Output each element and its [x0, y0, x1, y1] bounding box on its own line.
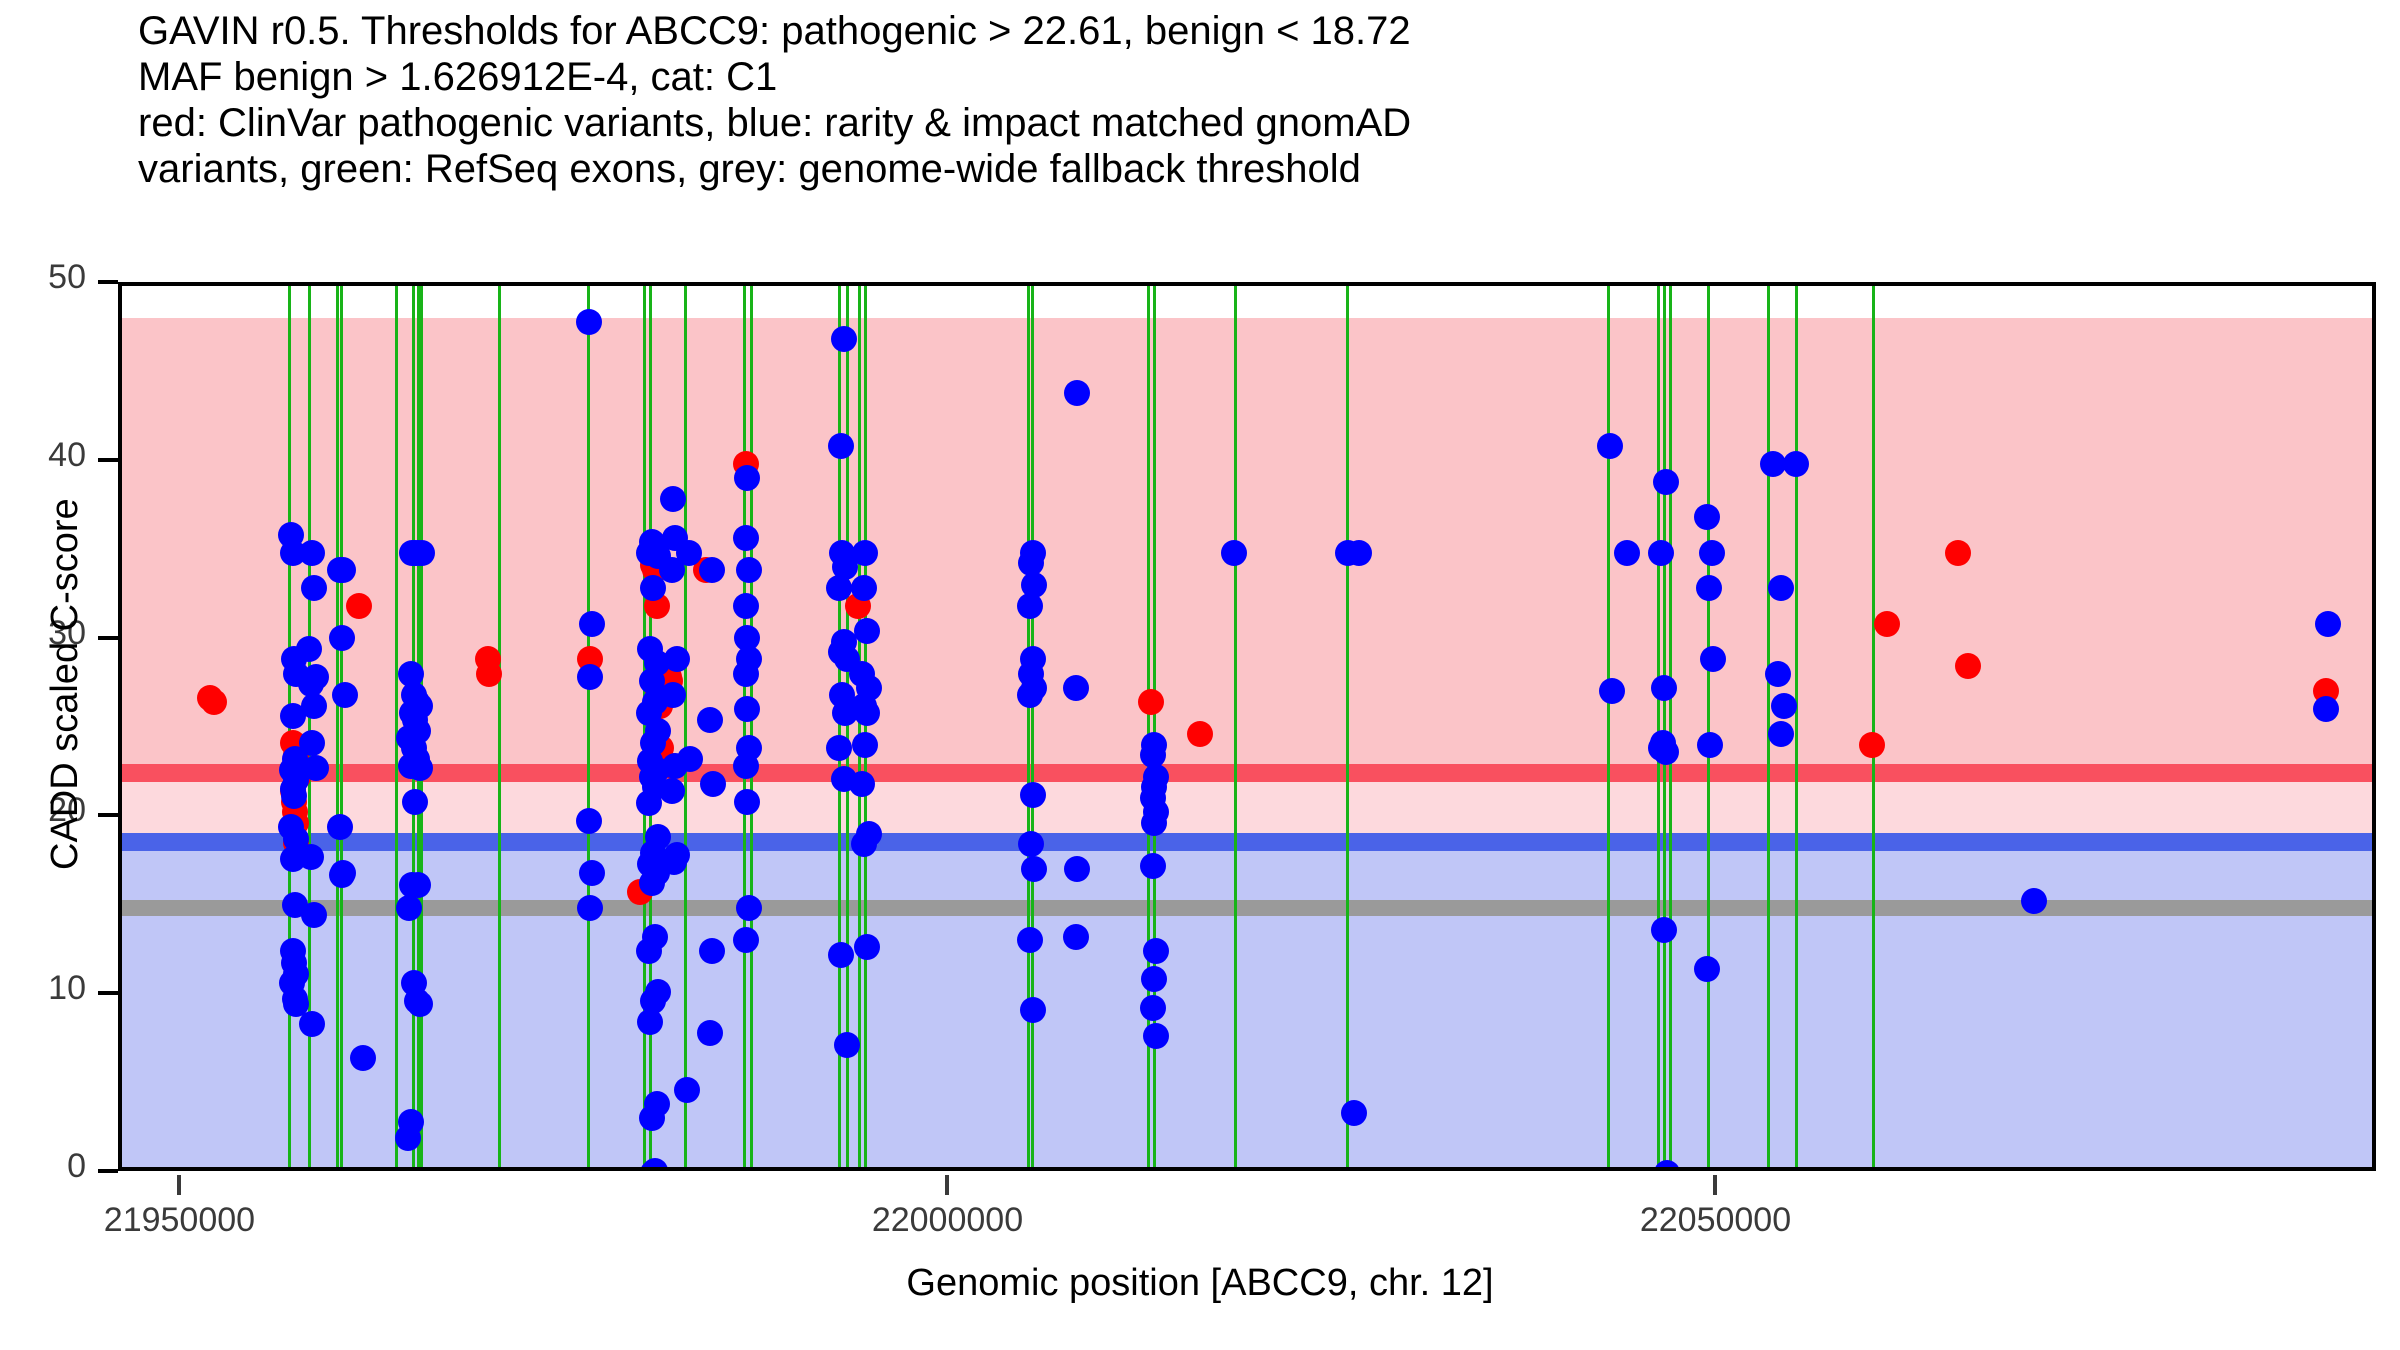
x-tick-label: 21950000 — [59, 1201, 299, 1240]
clinvar-pathogenic-point — [1945, 540, 1971, 566]
gnomad-variant-point — [576, 808, 602, 834]
x-tick — [945, 1175, 949, 1195]
gnomad-variant-point — [1699, 540, 1725, 566]
gnomad-variant-point — [854, 700, 880, 726]
chart-title-block: GAVIN r0.5. Thresholds for ABCC9: pathog… — [138, 8, 2238, 192]
y-tick-label: 10 — [48, 969, 86, 1008]
clinvar-pathogenic-point — [476, 661, 502, 687]
y-tick — [98, 813, 118, 817]
exon-line — [1707, 286, 1710, 1167]
clinvar-pathogenic-point — [346, 593, 372, 619]
gnomad-variant-point — [733, 927, 759, 953]
gnomad-variant-point — [576, 309, 602, 335]
y-tick — [98, 280, 118, 284]
gnomad-variant-point — [697, 707, 723, 733]
gnomad-variant-point — [332, 682, 358, 708]
title-line-2: MAF benign > 1.626912E-4, cat: C1 — [138, 54, 2238, 100]
exon-line — [750, 286, 753, 1167]
gnomad-variant-point — [1063, 675, 1089, 701]
gnomad-variant-point — [1017, 927, 1043, 953]
gnomad-variant-point — [1020, 782, 1046, 808]
gnomad-variant-point — [1064, 380, 1090, 406]
gnomad-variant-point — [851, 831, 877, 857]
exon-line — [864, 286, 867, 1167]
gnomad-variant-point — [733, 753, 759, 779]
gnomad-variant-point — [736, 895, 762, 921]
title-line-4: variants, green: RefSeq exons, grey: gen… — [138, 146, 2238, 192]
gnomad-variant-point — [734, 465, 760, 491]
gnomad-variant-point — [1341, 1100, 1367, 1126]
gnomad-variant-point — [1020, 997, 1046, 1023]
title-line-3: red: ClinVar pathogenic variants, blue: … — [138, 100, 2238, 146]
gnomad-variant-point — [1697, 732, 1723, 758]
y-tick-label: 0 — [67, 1147, 86, 1186]
gnomad-variant-point — [734, 789, 760, 815]
chart-root: GAVIN r0.5. Thresholds for ABCC9: pathog… — [0, 0, 2400, 1350]
exon-line — [1872, 286, 1875, 1167]
gnomad-variant-point — [674, 1077, 700, 1103]
gnomad-variant-point — [402, 789, 428, 815]
gnomad-variant-point — [1063, 924, 1089, 950]
gnomad-variant-point — [852, 732, 878, 758]
exon-line — [1795, 286, 1798, 1167]
y-tick — [98, 636, 118, 640]
exon-line — [1234, 286, 1237, 1167]
gnomad-variant-point — [639, 1105, 665, 1131]
gnomad-variant-point — [1651, 917, 1677, 943]
gnomad-variant-point — [303, 755, 329, 781]
gnomad-variant-point — [852, 540, 878, 566]
exon-line — [498, 286, 501, 1167]
ambiguous-zone — [122, 773, 2372, 842]
y-tick — [98, 458, 118, 462]
exon-line — [684, 286, 687, 1167]
gnomad-variant-point — [736, 557, 762, 583]
gnomad-variant-point — [301, 693, 327, 719]
gnomad-variant-point — [2315, 611, 2341, 637]
gnomad-variant-point — [296, 636, 322, 662]
gnomad-variant-point — [329, 625, 355, 651]
gnomad-variant-point — [1651, 675, 1677, 701]
gnomad-variant-point — [854, 618, 880, 644]
gnomad-variant-point — [733, 661, 759, 687]
gnomad-variant-point — [298, 844, 324, 870]
gnomad-variant-point — [828, 942, 854, 968]
y-tick-label: 40 — [48, 436, 86, 475]
gnomad-variant-point — [1768, 575, 1794, 601]
gnomad-variant-point — [699, 938, 725, 964]
gnomad-variant-point — [327, 814, 353, 840]
gnomad-variant-point — [1696, 575, 1722, 601]
gnomad-variant-point — [299, 540, 325, 566]
gnomad-variant-point — [1653, 469, 1679, 495]
gnomad-variant-point — [1783, 451, 1809, 477]
gnomad-variant-point — [1017, 593, 1043, 619]
exon-line — [858, 286, 861, 1167]
plot-area — [118, 282, 2376, 1171]
pathogenic-zone — [122, 318, 2372, 782]
gnomad-variant-point — [636, 938, 662, 964]
x-axis-label: Genomic position [ABCC9, chr. 12] — [0, 1262, 2400, 1305]
exon-line — [1027, 286, 1030, 1167]
gnomad-variant-point — [662, 753, 688, 779]
gnomad-variant-point — [409, 540, 435, 566]
exon-line — [743, 286, 746, 1167]
gnomad-variant-point — [1771, 693, 1797, 719]
y-tick — [98, 1169, 118, 1173]
gnomad-variant-point — [1614, 540, 1640, 566]
exon-line — [1669, 286, 1672, 1167]
gnomad-variant-point — [1346, 540, 1372, 566]
exon-line — [1663, 286, 1666, 1167]
exon-line — [587, 286, 590, 1167]
gnomad-variant-point — [579, 860, 605, 886]
exon-line — [1657, 286, 1660, 1167]
gnomad-variant-point — [350, 1045, 376, 1071]
x-tick — [177, 1175, 181, 1195]
benign-threshold-line — [122, 833, 2372, 851]
gnomad-variant-point — [733, 525, 759, 551]
gnomad-variant-point — [1017, 682, 1043, 708]
gnomad-variant-point — [579, 611, 605, 637]
gnomad-variant-point — [1141, 810, 1167, 836]
gnomad-variant-point — [1765, 661, 1791, 687]
y-tick-label: 50 — [48, 258, 86, 297]
gnomad-variant-point — [851, 575, 877, 601]
gnomad-variant-point — [1140, 853, 1166, 879]
gnomad-variant-point — [1768, 721, 1794, 747]
gnomad-variant-point — [828, 433, 854, 459]
exon-line — [340, 286, 343, 1167]
gnomad-variant-point — [1143, 938, 1169, 964]
exon-line — [395, 286, 398, 1167]
gnomad-variant-point — [395, 1125, 421, 1151]
x-tick-label: 22000000 — [827, 1201, 1067, 1240]
gnomad-variant-point — [659, 778, 685, 804]
pathogenic-threshold-line — [122, 764, 2372, 782]
exon-line — [336, 286, 339, 1167]
clinvar-pathogenic-point — [1859, 732, 1885, 758]
exon-line — [1607, 286, 1610, 1167]
gnomad-variant-point — [1648, 540, 1674, 566]
gnomad-variant-point — [329, 862, 355, 888]
gnomad-variant-point — [733, 593, 759, 619]
gnomad-variant-point — [1140, 995, 1166, 1021]
gnomad-variant-point — [664, 646, 690, 672]
gnomad-variant-point — [1221, 540, 1247, 566]
clinvar-pathogenic-point — [1874, 611, 1900, 637]
exon-line — [1031, 286, 1034, 1167]
exon-line — [1346, 286, 1349, 1167]
title-line-1: GAVIN r0.5. Thresholds for ABCC9: pathog… — [138, 8, 2238, 54]
x-tick — [1713, 1175, 1717, 1195]
gnomad-variant-point — [407, 755, 433, 781]
y-tick — [98, 991, 118, 995]
gnomad-variant-point — [1694, 956, 1720, 982]
x-tick-label: 22050000 — [1595, 1201, 1835, 1240]
y-axis-label: CADD scaled C-score — [44, 498, 87, 870]
gnomad-variant-point — [1143, 1023, 1169, 1049]
gnomad-variant-point — [697, 1020, 723, 1046]
